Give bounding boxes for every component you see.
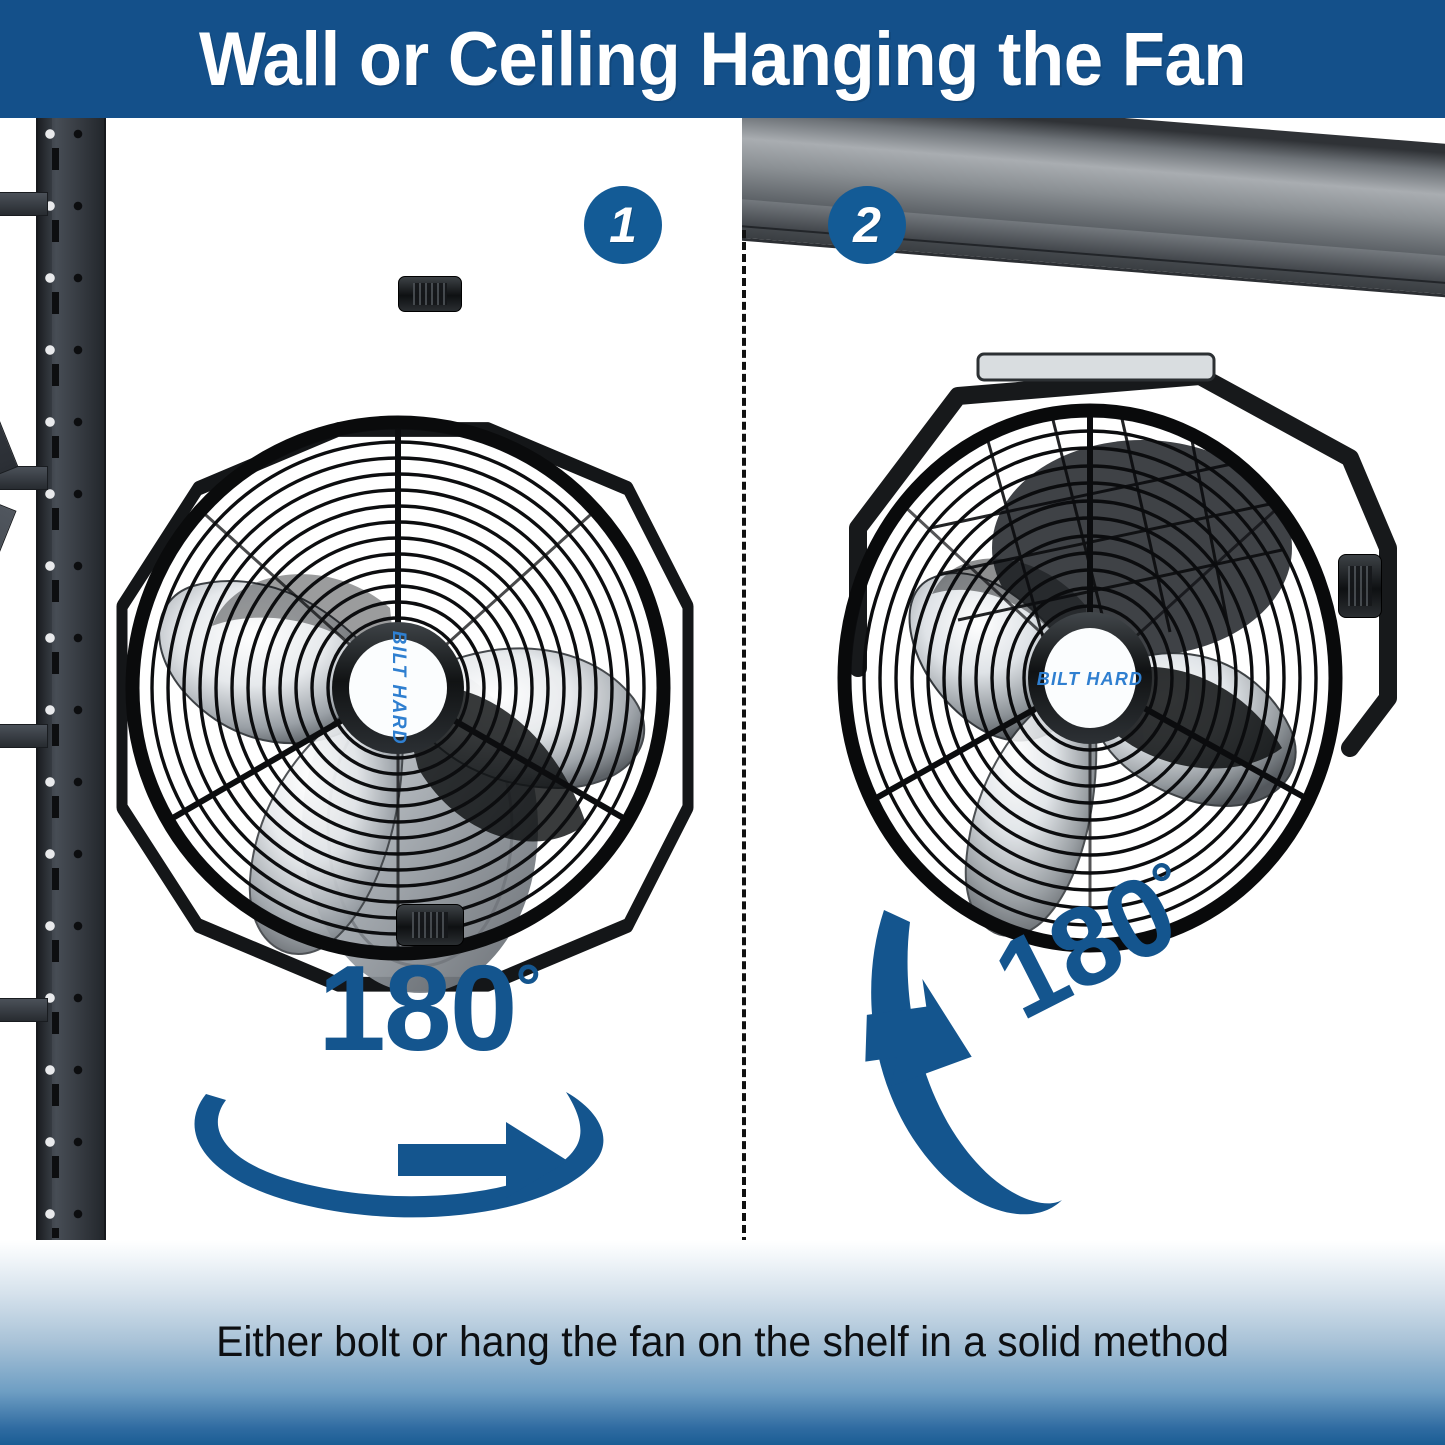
degree-symbol-left: ° (516, 952, 541, 1022)
rack-beam-bottom (0, 998, 48, 1022)
panel-divider (742, 230, 746, 1240)
rack-beam-top (0, 192, 48, 216)
rotation-arrow-icon (168, 1048, 618, 1233)
tilt-arrow-icon (848, 904, 1128, 1234)
bracket-top-plate (978, 354, 1214, 380)
page-title: Wall or Ceiling Hanging the Fan (51, 0, 1395, 118)
footer-caption: Either bolt or hang the fan on the shelf… (36, 1240, 1409, 1445)
hub-logo-2: BILT HARD (1037, 669, 1143, 689)
illustration-stage: BILT HARD (0, 118, 1445, 1240)
footer-gradient-band: Either bolt or hang the fan on the shelf… (0, 1240, 1445, 1445)
fan1-top-adjust-knob[interactable] (398, 276, 462, 312)
fan2-tilt-knob[interactable] (1338, 554, 1382, 618)
step-badge-2: 2 (828, 186, 906, 264)
rack-diagonal-brace-upper (0, 233, 18, 475)
step-badge-1: 1 (584, 186, 662, 264)
rack-diagonal-brace-lower (0, 503, 17, 736)
rack-beam-low (0, 724, 48, 748)
header-banner: Wall or Ceiling Hanging the Fan (0, 0, 1445, 118)
hub-logo: BILT HARD (388, 631, 409, 745)
infographic-page: Wall or Ceiling Hanging the Fan (0, 0, 1445, 1445)
